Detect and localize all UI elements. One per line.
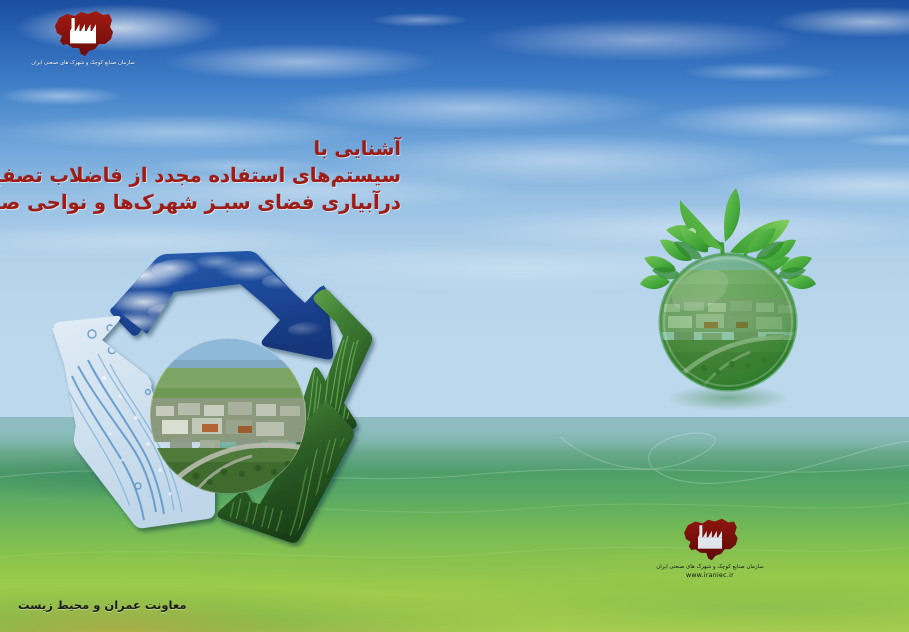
recycle-arrows-icon	[52, 248, 402, 548]
department-label: معاونت عمران و محیط زیست	[18, 598, 186, 612]
iran-map-factory-logo-icon	[8, 8, 158, 60]
top-organization-logo: سازمان صنایع کوچک و شهرک های صنعتی ایران	[8, 8, 158, 80]
title-line-1: آشنایی با	[314, 138, 401, 160]
bottom-organization-logo: سازمان صنایع کوچک و شهرک های صنعتی ایران…	[646, 516, 774, 579]
title-line-2: سیستم‌های استفاده مجدد از فاضلاب تصفیه ش…	[0, 164, 401, 187]
top-logo-caption: سازمان صنایع کوچک و شهرک های صنعتی ایران	[8, 61, 158, 67]
bottom-logo-url[interactable]: www.iraniec.ir	[646, 572, 774, 579]
poster-canvas: سازمان صنایع کوچک و شهرک های صنعتی ایران…	[0, 0, 909, 632]
iran-map-factory-logo-icon	[646, 516, 774, 564]
plant-globe-icon	[630, 186, 842, 416]
title-line-3: درآبیاری فضای سبـز شهرک‌ها و نواحی صنعتی	[0, 191, 401, 214]
bottom-logo-caption: سازمان صنایع کوچک و شهرک های صنعتی ایران	[646, 564, 774, 570]
